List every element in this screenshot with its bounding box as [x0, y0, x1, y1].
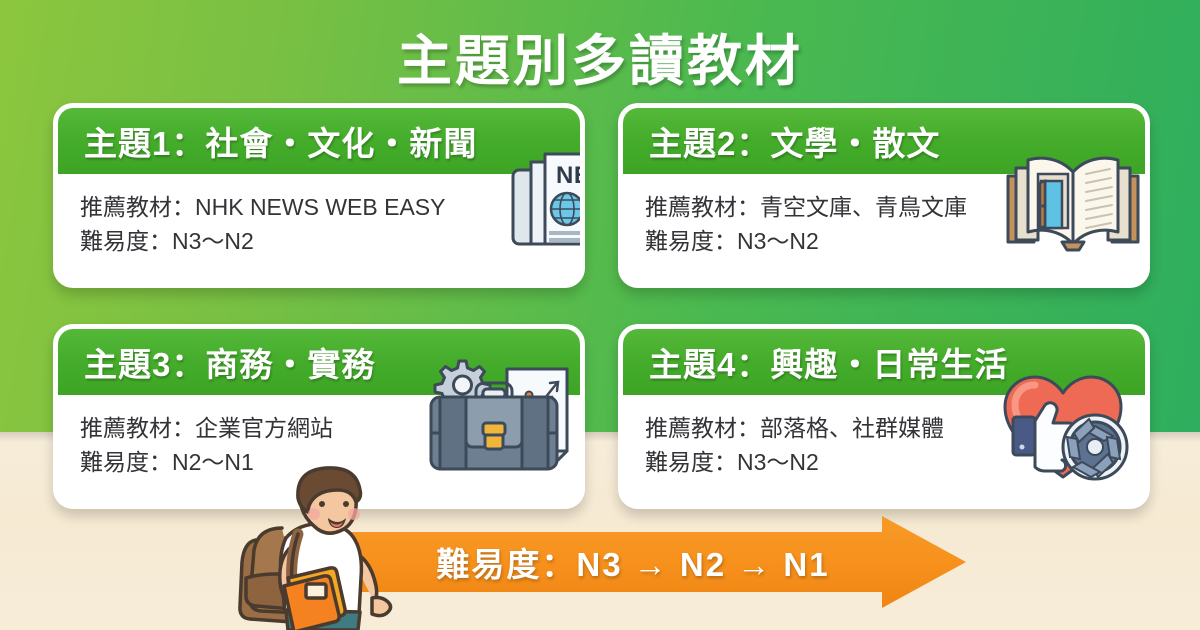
- student-illustration: [222, 466, 412, 630]
- topic-card-1-title: 主題1：社會・文化・新聞: [84, 117, 477, 165]
- topic-card-1-header: 主題1：社會・文化・新聞: [58, 108, 580, 174]
- topic-card-1[interactable]: 主題1：社會・文化・新聞 推薦教材：NHK NEWS WEB EASY 難易度：…: [53, 103, 585, 288]
- topic-card-2-material: 推薦教材：青空文庫、青鳥文庫: [645, 190, 1145, 224]
- topic-card-2-header: 主題2：文學・散文: [623, 108, 1145, 174]
- difficulty-progression-arrow: 難易度：N3 → N2 → N1: [336, 512, 970, 612]
- topic-card-2-body: 推薦教材：青空文庫、青鳥文庫 難易度：N3〜N2: [623, 174, 1145, 283]
- topic-card-4-material: 推薦教材：部落格、社群媒體: [645, 411, 1145, 445]
- arrow-label: 難易度：N3 → N2 → N1: [398, 538, 868, 586]
- topic-card-2-title: 主題2：文學・散文: [649, 117, 940, 165]
- topic-card-3-material: 推薦教材：企業官方網站: [80, 411, 580, 445]
- topic-card-3-title: 主題3：商務・實務: [84, 338, 375, 386]
- topic-card-1-material: 推薦教材：NHK NEWS WEB EASY: [80, 190, 580, 224]
- topic-card-1-level: 難易度：N3〜N2: [80, 224, 580, 258]
- topic-card-3-header: 主題3：商務・實務: [58, 329, 580, 395]
- topic-card-4-body: 推薦教材：部落格、社群媒體 難易度：N3〜N2: [623, 395, 1145, 504]
- topic-card-1-body: 推薦教材：NHK NEWS WEB EASY 難易度：N3〜N2 NEWS: [58, 174, 580, 283]
- topic-card-2-level: 難易度：N3〜N2: [645, 224, 1145, 258]
- topic-card-4-level: 難易度：N3〜N2: [645, 445, 1145, 479]
- topic-card-2[interactable]: 主題2：文學・散文 推薦教材：青空文庫、青鳥文庫 難易度：N3〜N2: [618, 103, 1150, 288]
- topic-card-4-title: 主題4：興趣・日常生活: [649, 338, 1008, 386]
- topic-card-4[interactable]: 主題4：興趣・日常生活 推薦教材：部落格、社群媒體 難易度：N3〜N2: [618, 324, 1150, 509]
- page-title: 主題別多讀教材: [0, 16, 1200, 96]
- topic-card-4-header: 主題4：興趣・日常生活: [623, 329, 1145, 395]
